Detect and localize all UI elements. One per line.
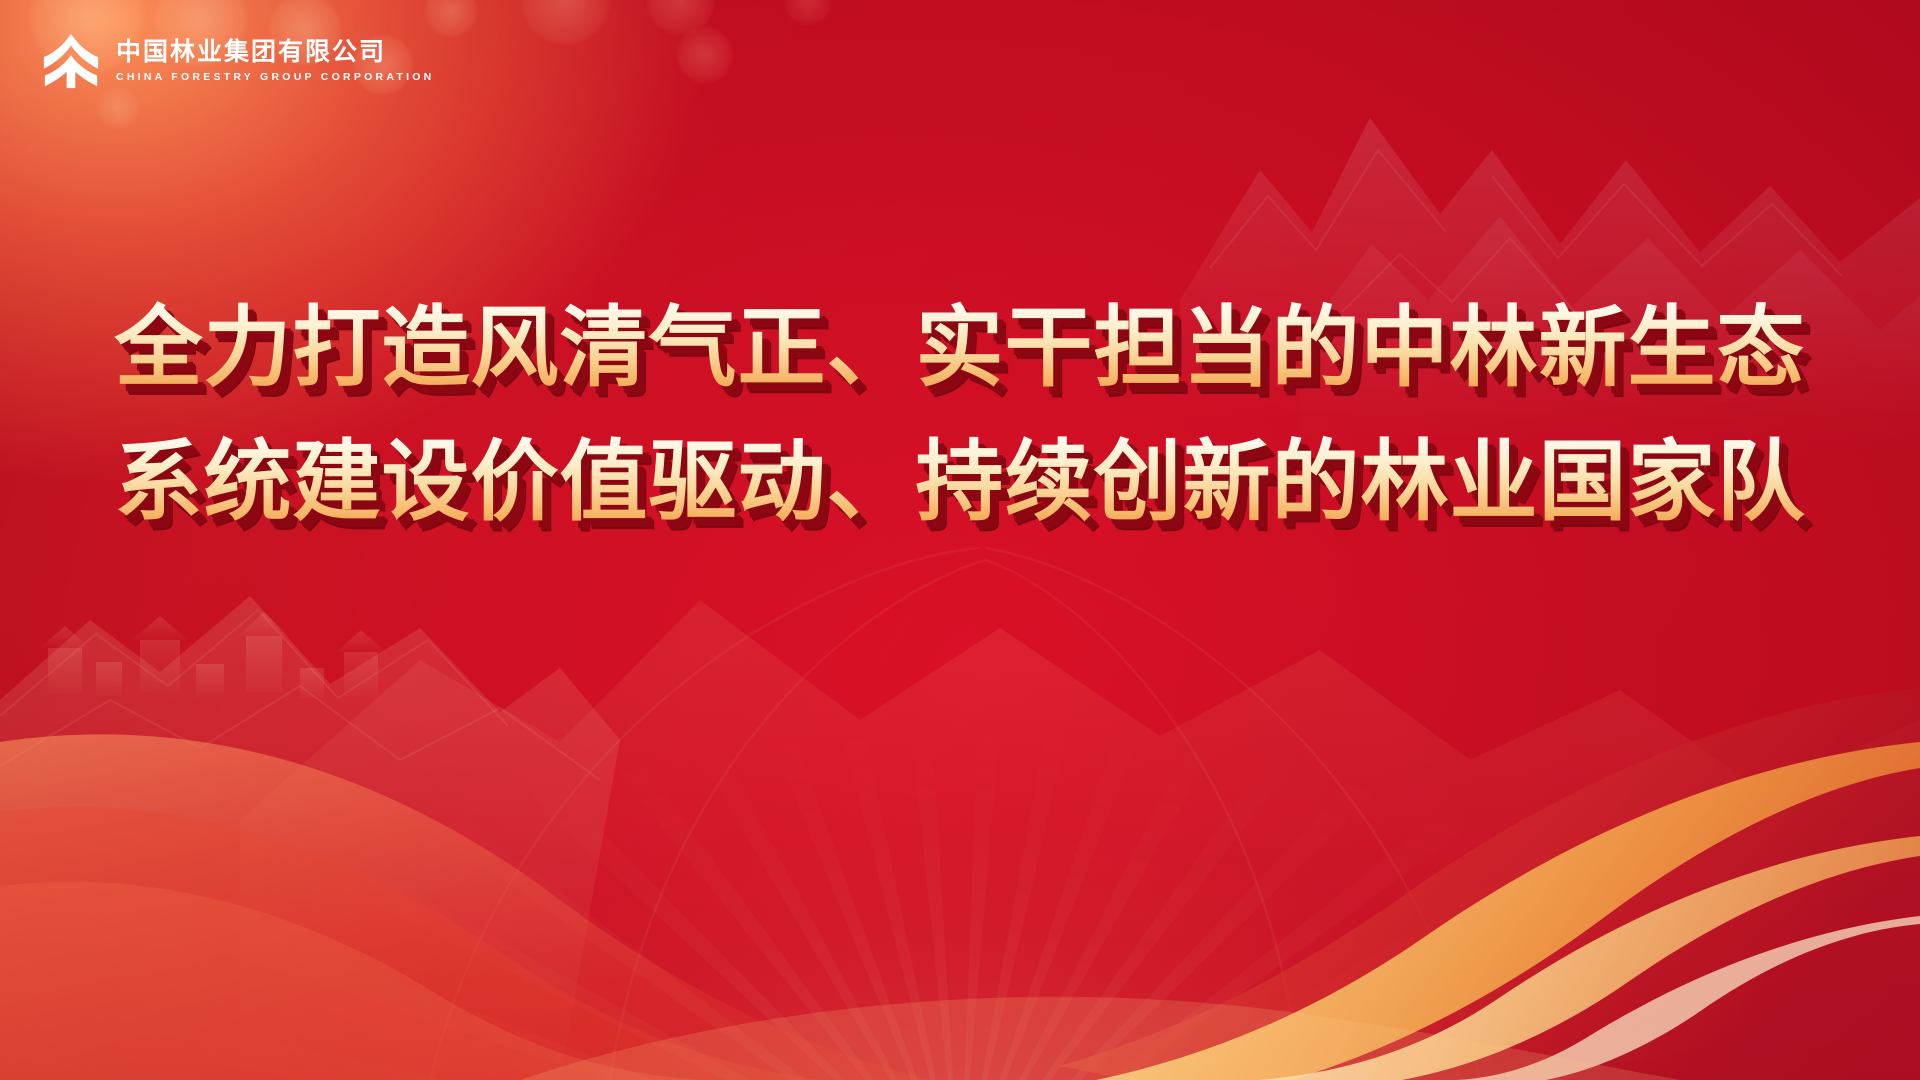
company-name-en: CHINA FORESTRY GROUP CORPORATION <box>116 72 435 84</box>
bokeh-circle <box>520 0 612 46</box>
headline-block: 全力打造风清气正、实干担当的中林新生态 全力打造风清气正、实干担当的中林新生态 … <box>0 292 1920 538</box>
bokeh-circle <box>676 26 734 84</box>
bokeh-circle <box>646 0 716 36</box>
bokeh-circle <box>96 86 140 130</box>
company-name-cn: 中国林业集团有限公司 <box>116 38 435 66</box>
headline-line-2-text: 系统建设价值驱动、持续创新的林业国家队 <box>114 426 1805 538</box>
company-logo: 中国林业集团有限公司 CHINA FORESTRY GROUP CORPORAT… <box>40 30 435 92</box>
logo-wordmark: 中国林业集团有限公司 CHINA FORESTRY GROUP CORPORAT… <box>116 38 435 84</box>
headline-line-1: 全力打造风清气正、实干担当的中林新生态 全力打造风清气正、实干担当的中林新生态 <box>114 292 1805 404</box>
forestry-tree-chevron-logo-icon <box>40 30 102 92</box>
headline-line-1-text: 全力打造风清气正、实干担当的中林新生态 <box>114 292 1805 404</box>
poster-canvas: 中国林业集团有限公司 CHINA FORESTRY GROUP CORPORAT… <box>0 0 1920 1080</box>
headline-line-2: 系统建设价值驱动、持续创新的林业国家队 系统建设价值驱动、持续创新的林业国家队 <box>114 426 1805 538</box>
bokeh-circle <box>784 0 832 26</box>
